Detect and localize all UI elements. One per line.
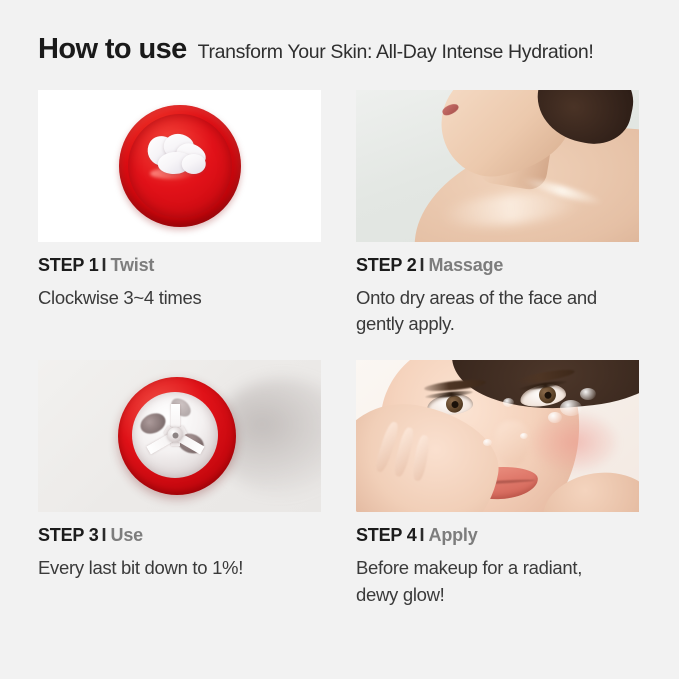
how-to-use-panel: How to use Transform Your Skin: All-Day … xyxy=(0,0,679,679)
pupil-shape xyxy=(451,400,459,408)
step-3-image xyxy=(38,360,321,512)
step-3-label: STEP 3 xyxy=(38,525,99,545)
step-1-action: Twist xyxy=(111,255,155,275)
spiral-hub-dot xyxy=(172,432,178,438)
step-4-label: STEP 4 xyxy=(356,525,417,545)
step-1-separator: I xyxy=(102,255,107,275)
step-card-4: STEP 4IApply Before makeup for a radiant… xyxy=(356,360,639,608)
step-3-action: Use xyxy=(111,525,143,545)
step-3-separator: I xyxy=(102,525,107,545)
step-card-3: STEP 3IUse Every last bit down to 1%! xyxy=(38,360,321,608)
step-3-description: Every last bit down to 1%! xyxy=(38,555,310,582)
dew-droplet xyxy=(580,388,596,400)
step-2-action: Massage xyxy=(429,255,504,275)
red-cap-disc-icon xyxy=(119,105,241,227)
dew-droplet xyxy=(560,400,582,416)
step-1-description: Clockwise 3~4 times xyxy=(38,285,310,312)
step-4-caption: STEP 4IApply xyxy=(356,525,639,546)
step-2-separator: I xyxy=(420,255,425,275)
red-jar-rim-icon xyxy=(118,377,236,495)
step-4-action: Apply xyxy=(429,525,478,545)
section-header: How to use Transform Your Skin: All-Day … xyxy=(38,0,641,66)
jar-spiral-dispenser xyxy=(132,392,218,478)
step-4-separator: I xyxy=(420,525,425,545)
page-subtitle: Transform Your Skin: All-Day Intense Hyd… xyxy=(198,42,594,63)
cheek-blush xyxy=(531,412,617,472)
nose-shape xyxy=(495,421,529,467)
step-4-description: Before makeup for a radiant, dewy glow! xyxy=(356,555,628,609)
step-2-image xyxy=(356,90,639,242)
step-4-image xyxy=(356,360,639,512)
cream-blob xyxy=(181,154,205,174)
page-title: How to use xyxy=(38,34,187,66)
step-2-description: Onto dry areas of the face and gently ap… xyxy=(356,285,628,339)
steps-grid: STEP 1ITwist Clockwise 3~4 times STEP 2I… xyxy=(38,90,641,609)
spiral-hub xyxy=(168,428,183,443)
step-3-caption: STEP 3IUse xyxy=(38,525,321,546)
step-1-image xyxy=(38,90,321,242)
step-1-label: STEP 1 xyxy=(38,255,99,275)
step-2-label: STEP 2 xyxy=(356,255,417,275)
step-2-caption: STEP 2IMassage xyxy=(356,255,639,276)
step-card-1: STEP 1ITwist Clockwise 3~4 times xyxy=(38,90,321,338)
pupil-shape xyxy=(544,390,552,398)
step-1-caption: STEP 1ITwist xyxy=(38,255,321,276)
iris-shape xyxy=(445,395,463,413)
cream-swirl-icon xyxy=(147,134,209,180)
step-card-2: STEP 2IMassage Onto dry areas of the fac… xyxy=(356,90,639,338)
